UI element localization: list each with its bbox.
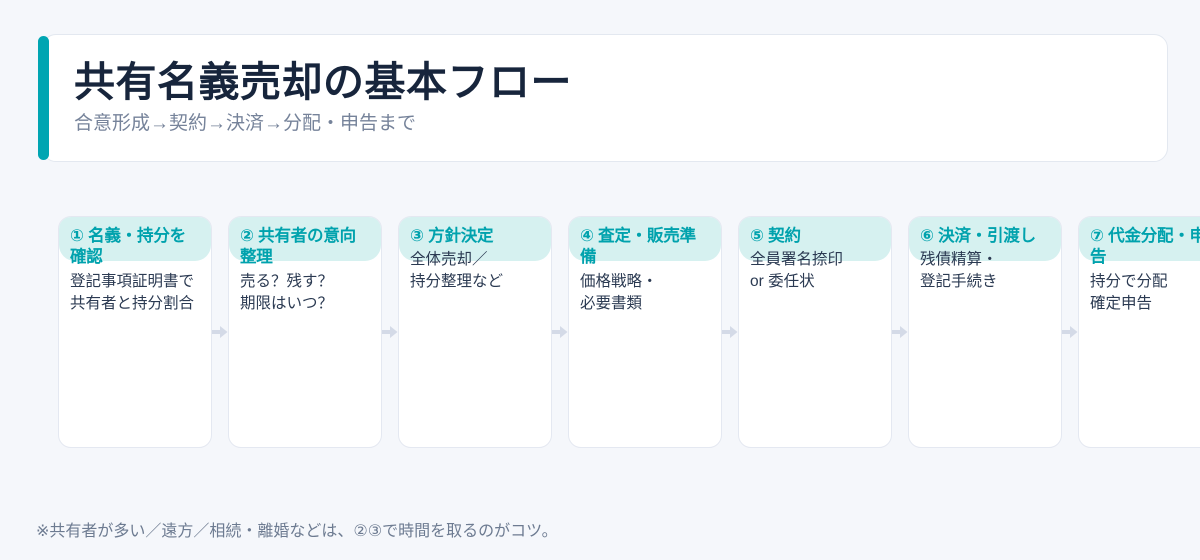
flow-step-title: ⑤ 契約 xyxy=(750,226,880,247)
flow-step-card[interactable]: ⑥ 決済・引渡し残債精算・登記手続き xyxy=(908,216,1062,448)
flow-step-card[interactable]: ⑦ 代金分配・申告持分で分配確定申告 xyxy=(1078,216,1200,448)
page-title: 共有名義売却の基本フロー xyxy=(74,60,1148,106)
footer-note: ※共有者が多い／遠方／相続・離婚などは、②③で時間を取るのがコツ。 xyxy=(36,521,558,543)
flow-step-content: ⑦ 代金分配・申告持分で分配確定申告 xyxy=(1079,217,1200,315)
flow-step-title: ② 共有者の意向整理 xyxy=(240,226,370,269)
header: 共有名義売却の基本フロー 合意形成→契約→決済→分配・申告まで xyxy=(38,34,1168,162)
flow-step-title: ① 名義・持分を確認 xyxy=(70,226,200,269)
flow-step-title: ⑦ 代金分配・申告 xyxy=(1090,226,1200,269)
flow-step-content: ② 共有者の意向整理売る？残す？期限はいつ？ xyxy=(229,217,381,315)
flow-step-body: 残債精算・登記手続き xyxy=(920,249,1050,293)
flow-step-content: ① 名義・持分を確認登記事項証明書で共有者と持分割合 xyxy=(59,217,211,315)
flow-step-card[interactable]: ③ 方針決定全体売却／持分整理など xyxy=(398,216,552,448)
flow-step-body: 登記事項証明書で共有者と持分割合 xyxy=(70,271,200,315)
page-subtitle: 合意形成→契約→決済→分配・申告まで xyxy=(74,113,1148,136)
flow-step-content: ③ 方針決定全体売却／持分整理など xyxy=(399,217,551,293)
flow-step-content: ⑥ 決済・引渡し残債精算・登記手続き xyxy=(909,217,1061,293)
flowchart-page: 共有名義売却の基本フロー 合意形成→契約→決済→分配・申告まで ① 名義・持分を… xyxy=(0,0,1200,560)
flow-step-title: ④ 査定・販売準備 xyxy=(580,226,710,269)
flow-step-content: ⑤ 契約全員署名捺印or 委任状 xyxy=(739,217,891,293)
arrow-right-icon xyxy=(552,216,568,448)
arrow-right-icon xyxy=(892,216,908,448)
flow-step-body: 全員署名捺印or 委任状 xyxy=(750,249,880,293)
flow-step-body: 価格戦略・必要書類 xyxy=(580,271,710,315)
flow-step-card[interactable]: ② 共有者の意向整理売る？残す？期限はいつ？ xyxy=(228,216,382,448)
flow-step-content: ④ 査定・販売準備価格戦略・必要書類 xyxy=(569,217,721,315)
header-text-group: 共有名義売却の基本フロー 合意形成→契約→決済→分配・申告まで xyxy=(74,34,1148,162)
arrow-right-icon xyxy=(1062,216,1078,448)
flow-step-body: 売る？残す？期限はいつ？ xyxy=(240,271,370,315)
arrow-right-icon xyxy=(722,216,738,448)
flow-step-title: ③ 方針決定 xyxy=(410,226,540,247)
flow-step-body: 持分で分配確定申告 xyxy=(1090,271,1200,315)
header-accent-bar xyxy=(38,36,49,160)
arrow-right-icon xyxy=(212,216,228,448)
flow-steps-row: ① 名義・持分を確認登記事項証明書で共有者と持分割合② 共有者の意向整理売る？残… xyxy=(58,216,1200,448)
flow-step-body: 全体売却／持分整理など xyxy=(410,249,540,293)
flow-step-card[interactable]: ① 名義・持分を確認登記事項証明書で共有者と持分割合 xyxy=(58,216,212,448)
arrow-right-icon xyxy=(382,216,398,448)
flow-step-title: ⑥ 決済・引渡し xyxy=(920,226,1050,247)
flow-step-card[interactable]: ④ 査定・販売準備価格戦略・必要書類 xyxy=(568,216,722,448)
flow-step-card[interactable]: ⑤ 契約全員署名捺印or 委任状 xyxy=(738,216,892,448)
